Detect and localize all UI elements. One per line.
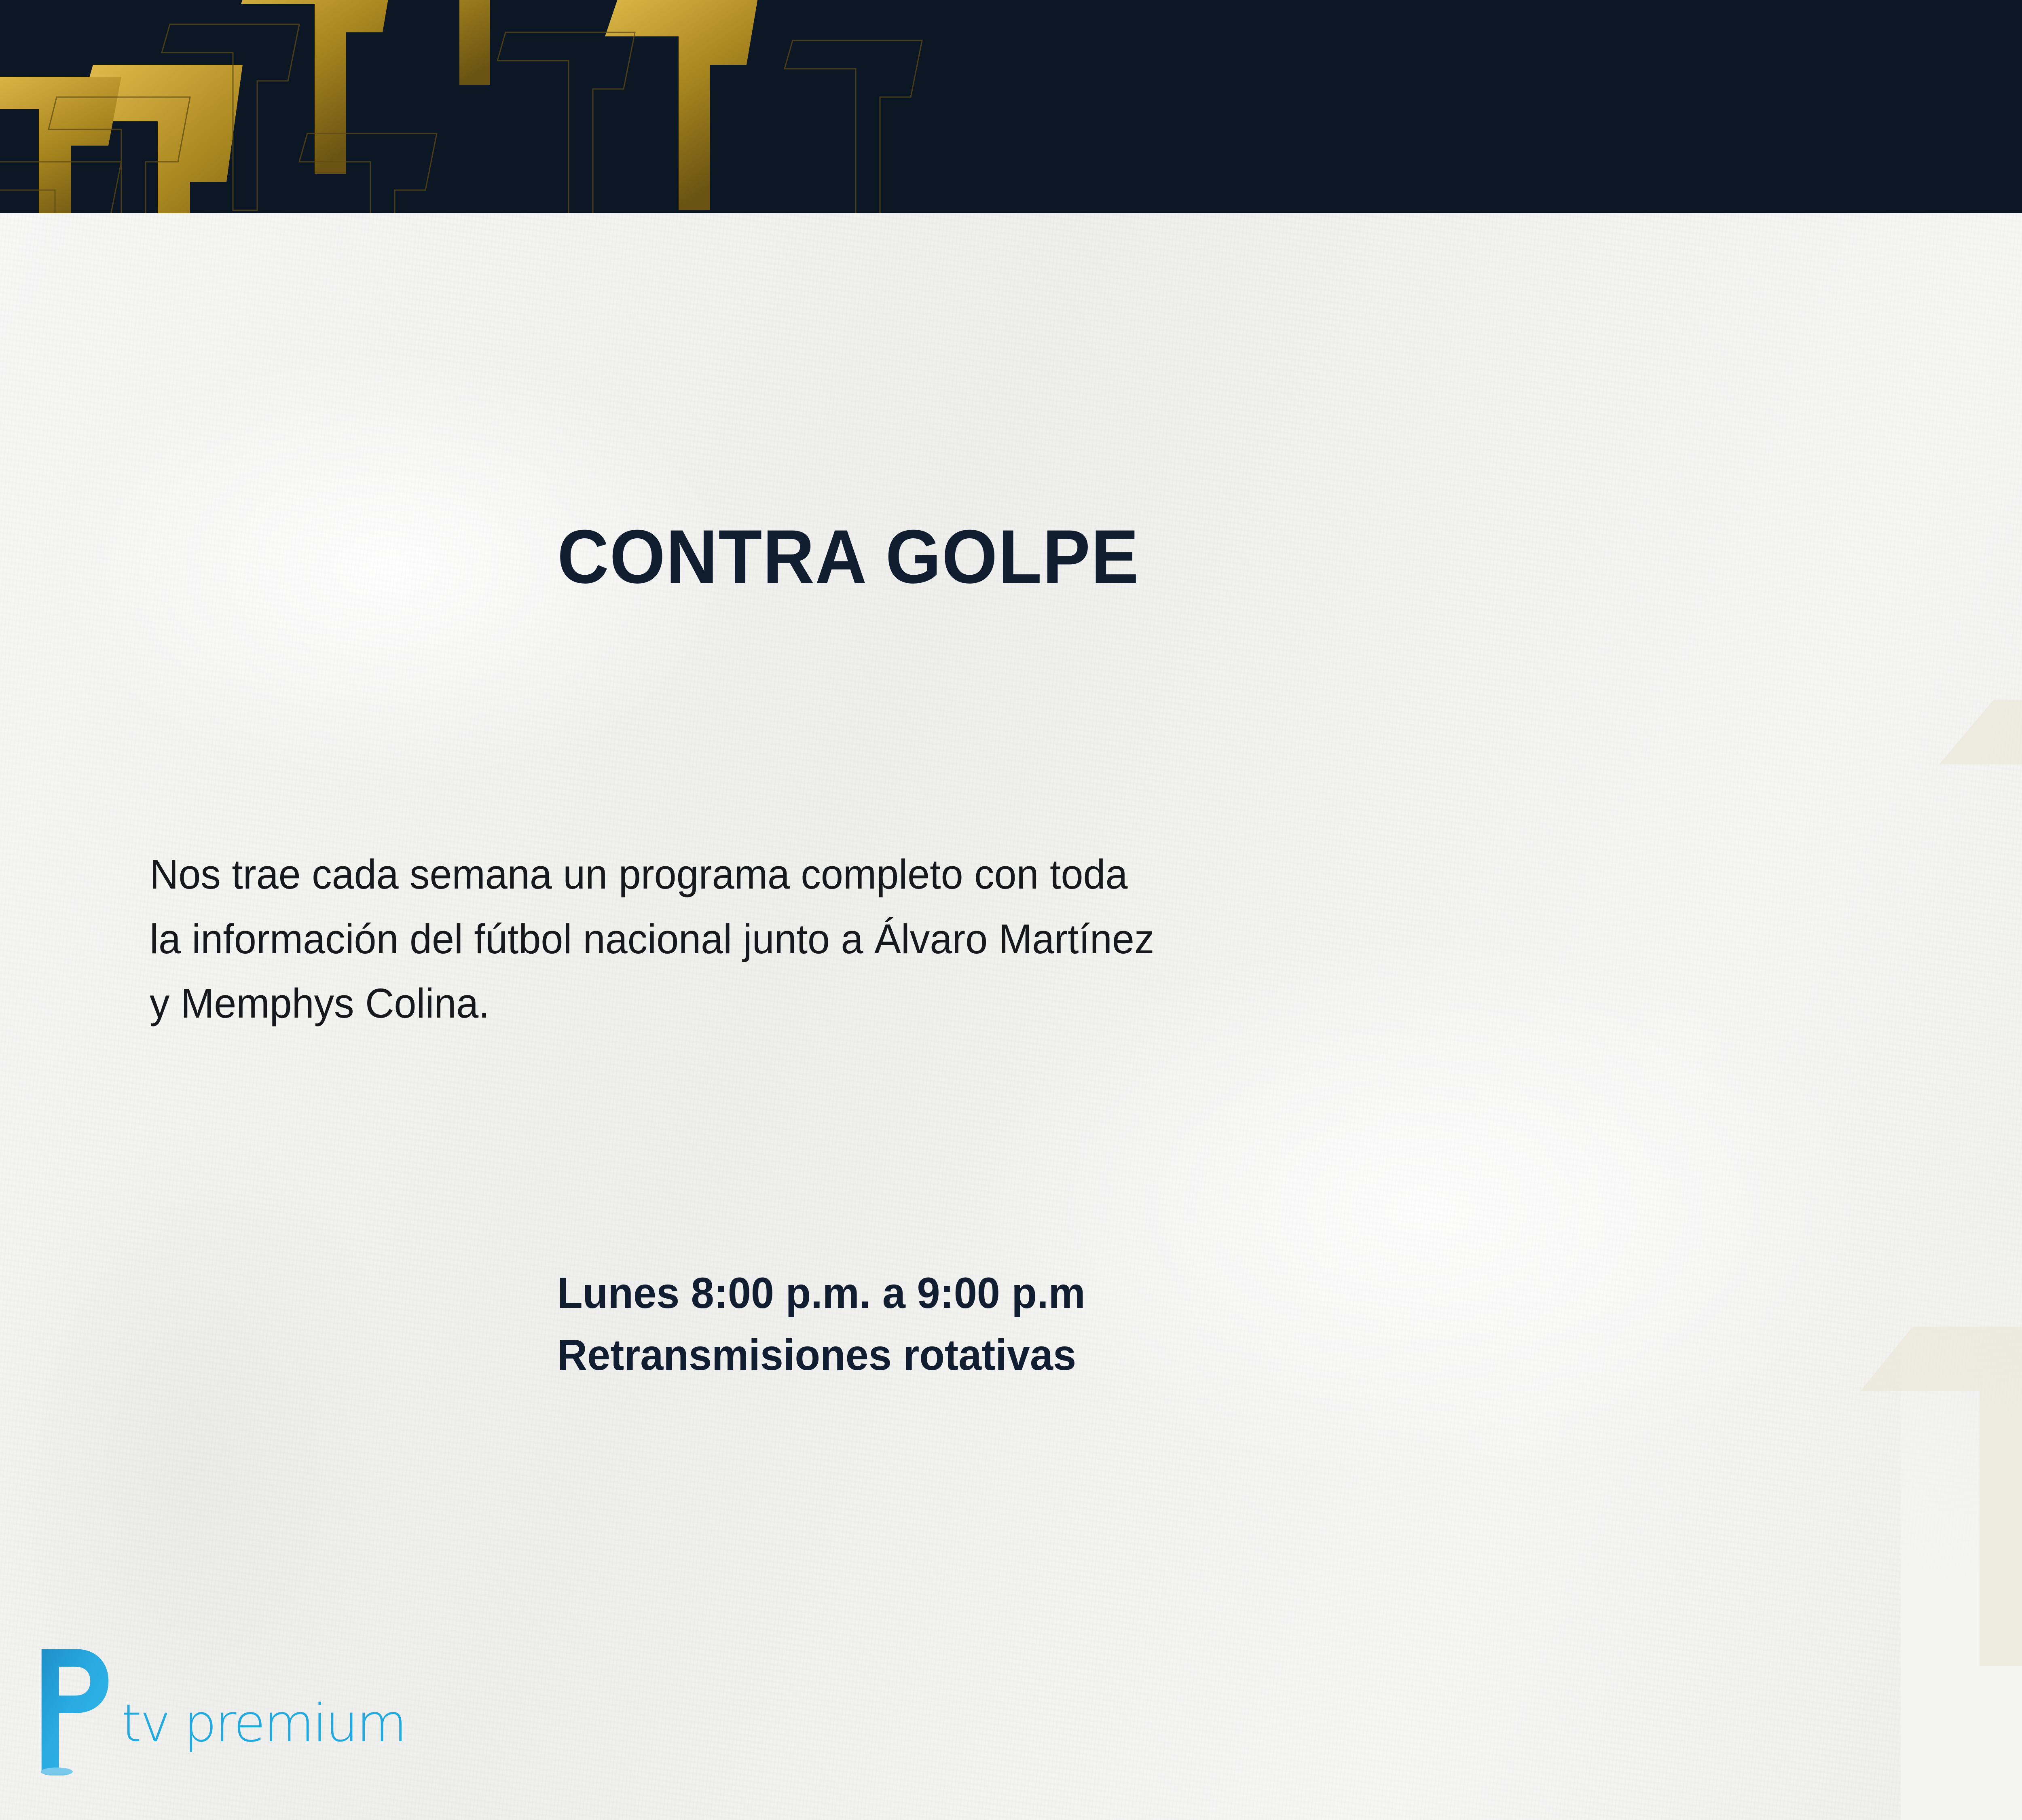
schedule-reruns: Retransmisiones rotativas: [557, 1324, 1085, 1386]
header-chevron-decor-right: [0, 0, 2022, 213]
tv-premium-logo: tv premium: [32, 1646, 476, 1800]
p-mark-icon: [32, 1646, 112, 1776]
promo-slide: eresPremium conexión + emoción + experie…: [0, 0, 2022, 1820]
tv-premium-label: tv premium: [121, 1698, 406, 1750]
description-line-2: la información del fútbol nacional junto…: [150, 907, 1897, 971]
background-chevron-watermark: [1840, 243, 2022, 1820]
description-line-3: y Memphys Colina.: [150, 971, 1897, 1036]
description-paragraph: Nos trae cada semana un programa complet…: [150, 842, 1897, 1036]
header-bar: eresPremium conexión + emoción + experie…: [0, 0, 2022, 213]
page-title: CONTRA GOLPE: [557, 518, 1140, 595]
schedule-block: Lunes 8:00 p.m. a 9:00 p.m Retransmision…: [557, 1262, 1085, 1386]
schedule-time: Lunes 8:00 p.m. a 9:00 p.m: [557, 1262, 1085, 1324]
description-line-1: Nos trae cada semana un programa complet…: [150, 842, 1897, 907]
